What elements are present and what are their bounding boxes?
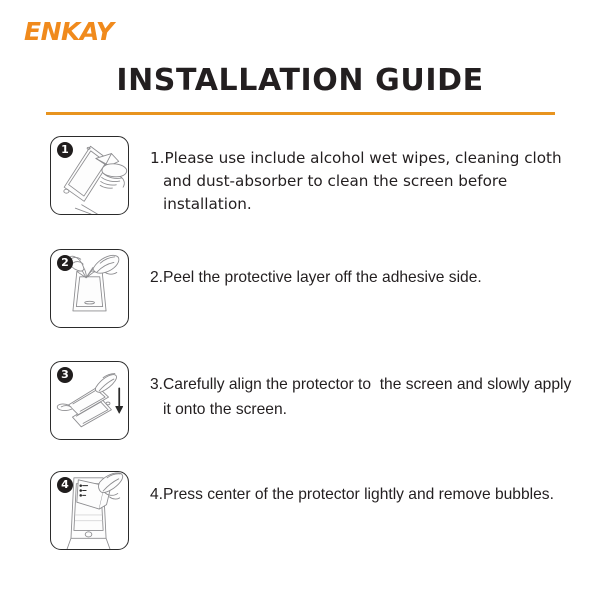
step-2-text: 2.Peel the protective layer off the adhe…: [150, 265, 583, 290]
step-4-text: 4.Press center of the protector lightly …: [150, 482, 583, 507]
page-title: INSTALLATION GUIDE: [0, 63, 600, 99]
step-4-illustration: 4: [50, 471, 129, 550]
step-1-badge: 1: [57, 142, 73, 158]
installation-guide-page: ENKAY INSTALLATION GUIDE 1: [0, 0, 600, 600]
step-3-illustration: 3: [50, 361, 129, 440]
step-2-badge: 2: [57, 255, 73, 271]
brand-logo: ENKAY: [24, 19, 113, 44]
step-1-illustration: 1: [50, 136, 129, 215]
step-1-text: 1.Please use include alcohol wet wipes, …: [150, 147, 583, 216]
step-4-badge: 4: [57, 477, 73, 493]
step-3-text: 3.Carefully align the protector to the s…: [150, 372, 583, 422]
step-3-badge: 3: [57, 367, 73, 383]
title-divider: [46, 112, 555, 115]
step-2-illustration: 2: [50, 249, 129, 328]
